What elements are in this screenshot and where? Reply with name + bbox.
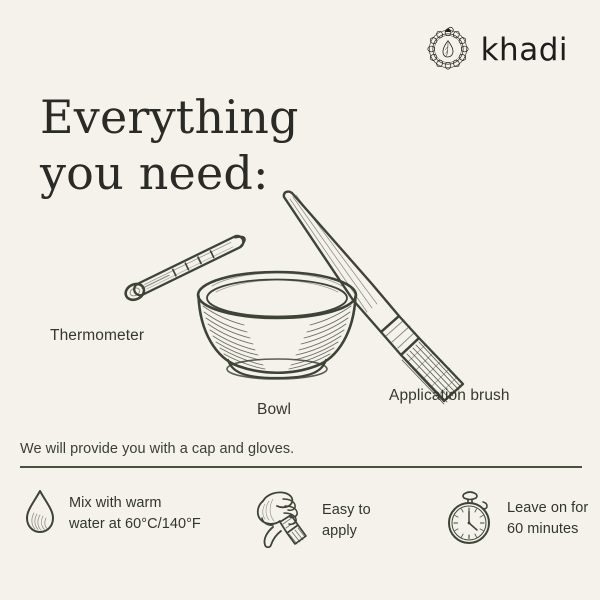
feature-leave-on-60-minutes: Leave on for 60 minutes — [444, 487, 594, 550]
khadi-mandala-leaf-logo-icon — [425, 26, 471, 72]
headline-line-1: Everything — [40, 90, 299, 144]
feature-line-1: Leave on for — [507, 498, 588, 519]
tool-label-application-brush: Application brush — [389, 387, 510, 405]
brand-wordmark: khadi — [481, 35, 568, 66]
feature-line-2: water at 60°C/140°F — [69, 514, 201, 535]
tool-label-thermometer: Thermometer — [50, 327, 144, 345]
section-divider — [20, 466, 582, 468]
feature-text-mix-with-warm-water: Mix with warm water at 60°C/140°F — [69, 493, 201, 534]
stopwatch-icon — [444, 487, 496, 550]
tool-label-bowl: Bowl — [257, 401, 291, 419]
feature-line-1: Easy to — [322, 500, 371, 521]
feature-row: Mix with warm water at 60°C/140°F — [0, 487, 600, 582]
feature-text-easy-to-apply: Easy to apply — [322, 500, 371, 541]
tools-illustration-group — [0, 180, 600, 430]
brand-lockup: khadi — [425, 26, 568, 72]
feature-text-leave-on: Leave on for 60 minutes — [507, 498, 588, 539]
hand-holding-brush-icon — [253, 487, 311, 554]
feature-line-2: apply — [322, 521, 371, 542]
cap-and-gloves-note: We will provide you with a cap and glove… — [20, 441, 294, 457]
water-droplet-icon — [22, 487, 58, 540]
application-brush-illustration — [284, 192, 463, 404]
feature-line-1: Mix with warm — [69, 493, 201, 514]
feature-line-2: 60 minutes — [507, 519, 588, 540]
poster-canvas: khadi Everything you need: — [0, 0, 600, 600]
thermometer-illustration — [123, 232, 248, 303]
bowl-illustration — [198, 272, 356, 379]
feature-easy-to-apply: Easy to apply — [253, 487, 438, 554]
feature-mix-with-warm-water: Mix with warm water at 60°C/140°F — [22, 487, 247, 540]
